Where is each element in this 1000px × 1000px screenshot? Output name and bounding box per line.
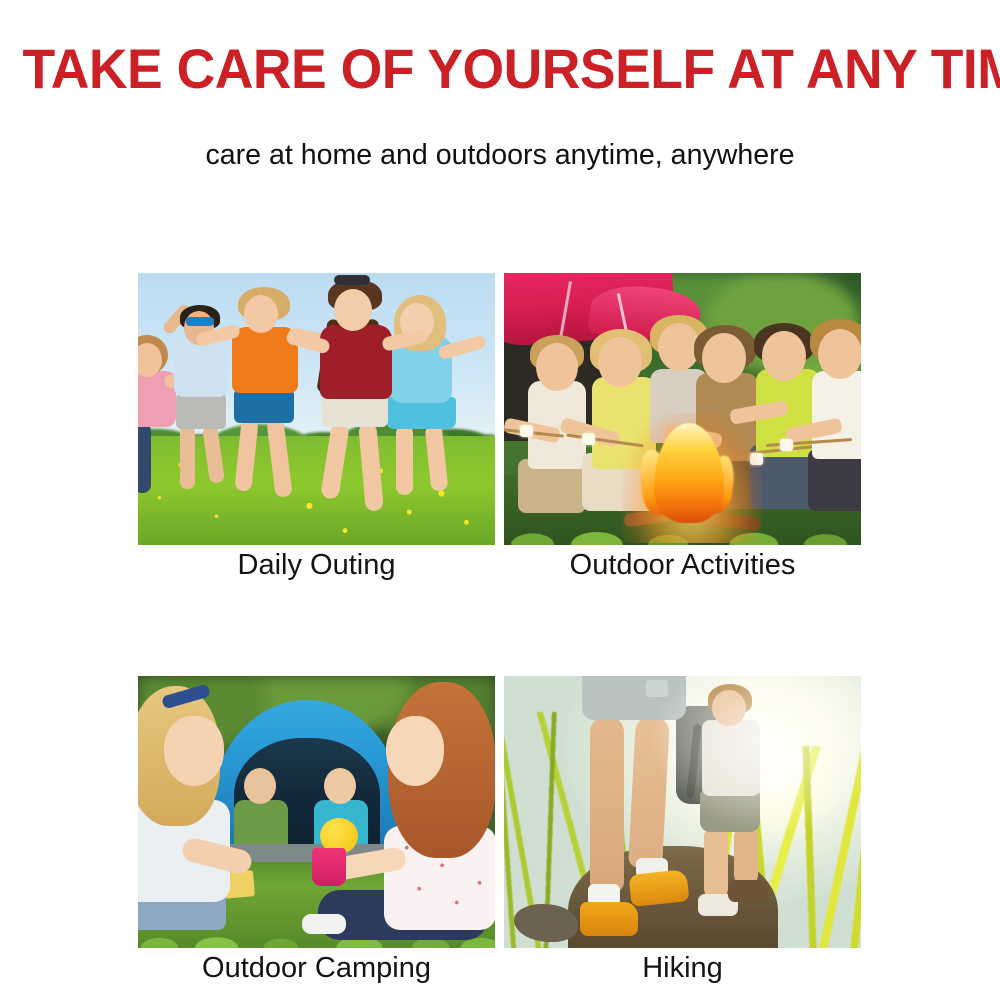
child-blue-shirt	[174, 339, 228, 397]
hiker-1-boot-left	[580, 902, 638, 936]
child-4-head	[702, 333, 746, 383]
gallery-row-2	[138, 676, 860, 948]
hiker-2-leg-left	[704, 826, 728, 900]
child-red-shirt	[320, 325, 392, 399]
child-orange-head	[244, 295, 278, 333]
gallery-tile-hiking[interactable]	[504, 676, 861, 948]
gallery-caption-row-1: Daily Outing Outdoor Activities	[138, 545, 860, 593]
gallery-row-spacer	[138, 593, 860, 676]
child-red-shorts	[322, 395, 388, 427]
child-6-head	[818, 329, 861, 379]
child-blue-shorts	[176, 393, 226, 429]
gallery-tile-outdoor-camping[interactable]	[138, 676, 495, 948]
hiker-1-boot-right	[628, 869, 689, 907]
gallery-tile-outdoor-activities[interactable]	[504, 273, 861, 545]
girl-blonde-face	[164, 716, 224, 786]
marshmallow-2	[582, 433, 595, 445]
photo-daily-outing	[138, 273, 495, 545]
child-1-head	[536, 343, 578, 391]
hiker-1-pocket	[646, 680, 668, 697]
hiker-1-leg-left	[590, 716, 624, 892]
hiker-2-boot-right	[728, 880, 768, 902]
caption-outdoor-activities: Outdoor Activities	[504, 545, 861, 585]
caption-outdoor-camping: Outdoor Camping	[138, 948, 495, 988]
page-title: TAKE CARE OF YOURSELF AT ANY TIME	[23, 38, 978, 100]
child-5-head	[762, 331, 806, 381]
hiker-1-shorts	[582, 676, 686, 720]
toddler-blue-head	[324, 768, 356, 804]
caption-daily-outing: Daily Outing	[138, 545, 495, 585]
girl-redhead-shoe	[302, 914, 346, 934]
sunglasses-icon	[186, 317, 214, 326]
hiker-2-leg-right	[734, 826, 758, 886]
child-blonde-leg-left	[396, 425, 413, 495]
child-pink-leg	[138, 423, 151, 493]
gallery-caption-row-2: Outdoor Camping Hiking	[138, 948, 860, 996]
hiker-2-top	[702, 720, 760, 796]
marshmallow-1	[520, 425, 533, 437]
girl-redhead-face	[386, 716, 444, 786]
photo-hiking	[504, 676, 861, 948]
child-6-tanktop	[812, 371, 861, 459]
child-2-head	[598, 337, 642, 387]
sunglasses-on-head-icon	[334, 275, 370, 285]
hiker-2-head	[712, 690, 746, 726]
child-red-head	[334, 289, 372, 331]
pink-cup	[312, 848, 346, 886]
photo-outdoor-activities	[504, 273, 861, 545]
photo-outdoor-camping	[138, 676, 495, 948]
child-orange-shorts	[234, 389, 294, 423]
hiker-2-shorts	[700, 790, 760, 832]
page-subtitle: care at home and outdoors anytime, anywh…	[8, 137, 993, 173]
caption-hiking: Hiking	[504, 948, 861, 988]
child-blue-leg-left	[180, 425, 195, 489]
toddler-green-head	[244, 768, 276, 804]
gallery-tile-daily-outing[interactable]	[138, 273, 495, 545]
marshmallow-5	[780, 439, 793, 451]
gallery-row-1	[138, 273, 860, 545]
feature-gallery: Daily Outing Outdoor Activities	[138, 273, 860, 996]
